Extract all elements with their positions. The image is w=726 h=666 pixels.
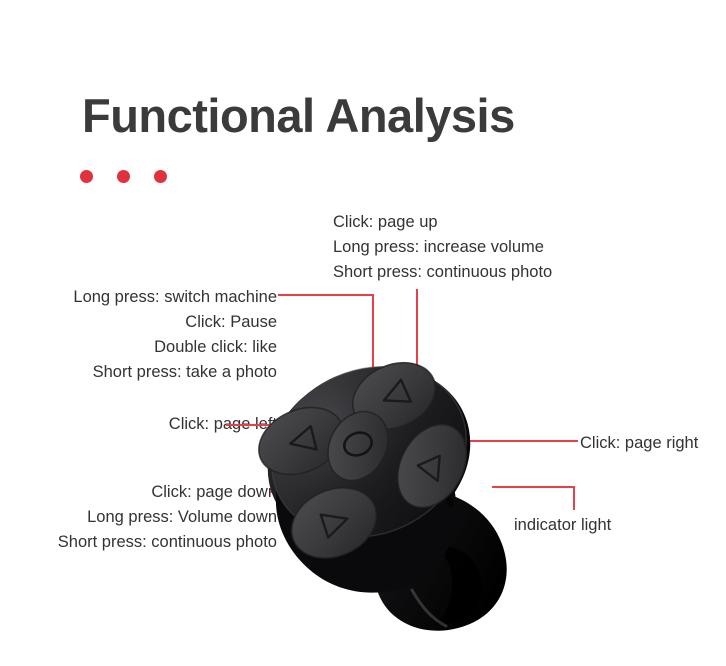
decorative-dots <box>80 170 190 186</box>
red-dot-icon <box>117 170 130 183</box>
callout-line: Long press: switch machine <box>73 285 277 310</box>
callout-line: Click: page right <box>580 431 698 456</box>
callout-line: Long press: increase volume <box>333 235 552 260</box>
callout-line: Click: Pause <box>73 310 277 335</box>
ring-remote-control <box>236 338 536 638</box>
functional-analysis-infographic: Functional Analysis Click: page up Long … <box>0 0 726 666</box>
callout-line: Short press: continuous photo <box>333 260 552 285</box>
leader-line-indicator-drop <box>573 486 575 510</box>
leader-line-center-button <box>278 294 374 296</box>
red-dot-icon <box>154 170 167 183</box>
callout-right-button: Click: page right <box>580 431 698 456</box>
callout-top-button: Click: page up Long press: increase volu… <box>333 210 552 285</box>
callout-line: Click: page up <box>333 210 552 235</box>
page-title: Functional Analysis <box>82 88 515 143</box>
red-dot-icon <box>80 170 93 183</box>
